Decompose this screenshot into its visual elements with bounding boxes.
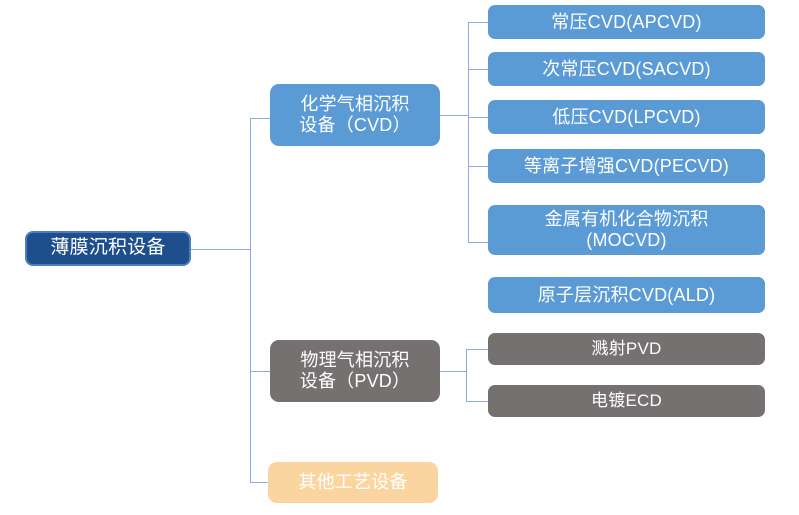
connector-trunk-to-cvd: [250, 118, 272, 119]
connector-cvd-to-pecvd: [468, 166, 490, 167]
branch-node-cvd[interactable]: 化学气相沉积 设备（CVD）: [270, 84, 440, 146]
mindmap-canvas: 薄膜沉积设备 化学气相沉积 设备（CVD） 物理气相沉积 设备（PVD） 其他工…: [0, 0, 799, 515]
branch-node-other-process[interactable]: 其他工艺设备: [268, 462, 438, 503]
connector-cvd-out: [440, 115, 468, 116]
leaf-node-mocvd[interactable]: 金属有机化合物沉积 (MOCVD): [488, 205, 765, 255]
connector-pvd-to-ecd: [466, 401, 490, 402]
connector-root-out: [190, 249, 250, 250]
leaf-node-apcvd[interactable]: 常压CVD(APCVD): [488, 5, 765, 39]
connector-cvd-to-apcvd: [468, 22, 490, 23]
connector-trunk-to-other: [250, 482, 270, 483]
leaf-node-sacvd[interactable]: 次常压CVD(SACVD): [488, 52, 765, 86]
connector-cvd-trunk: [468, 22, 469, 242]
connector-pvd-to-sputter: [466, 349, 490, 350]
leaf-node-lpcvd[interactable]: 低压CVD(LPCVD): [488, 100, 765, 134]
connector-pvd-out: [440, 371, 466, 372]
connector-pvd-trunk: [466, 349, 467, 401]
connector-cvd-to-sacvd: [468, 69, 490, 70]
connector-trunk-to-pvd: [250, 371, 272, 372]
leaf-node-sputter-pvd[interactable]: 溅射PVD: [488, 333, 765, 365]
connector-cvd-to-mocvd: [468, 242, 490, 243]
branch-node-pvd[interactable]: 物理气相沉积 设备（PVD）: [270, 340, 440, 402]
leaf-node-electroplating-ecd[interactable]: 电镀ECD: [488, 385, 765, 417]
leaf-node-ald[interactable]: 原子层沉积CVD(ALD): [488, 277, 765, 313]
connector-cvd-to-lpcvd: [468, 117, 490, 118]
root-node-thin-film-deposition[interactable]: 薄膜沉积设备: [25, 231, 191, 266]
connector-main-trunk: [250, 118, 251, 482]
leaf-node-pecvd[interactable]: 等离子增强CVD(PECVD): [488, 149, 765, 183]
